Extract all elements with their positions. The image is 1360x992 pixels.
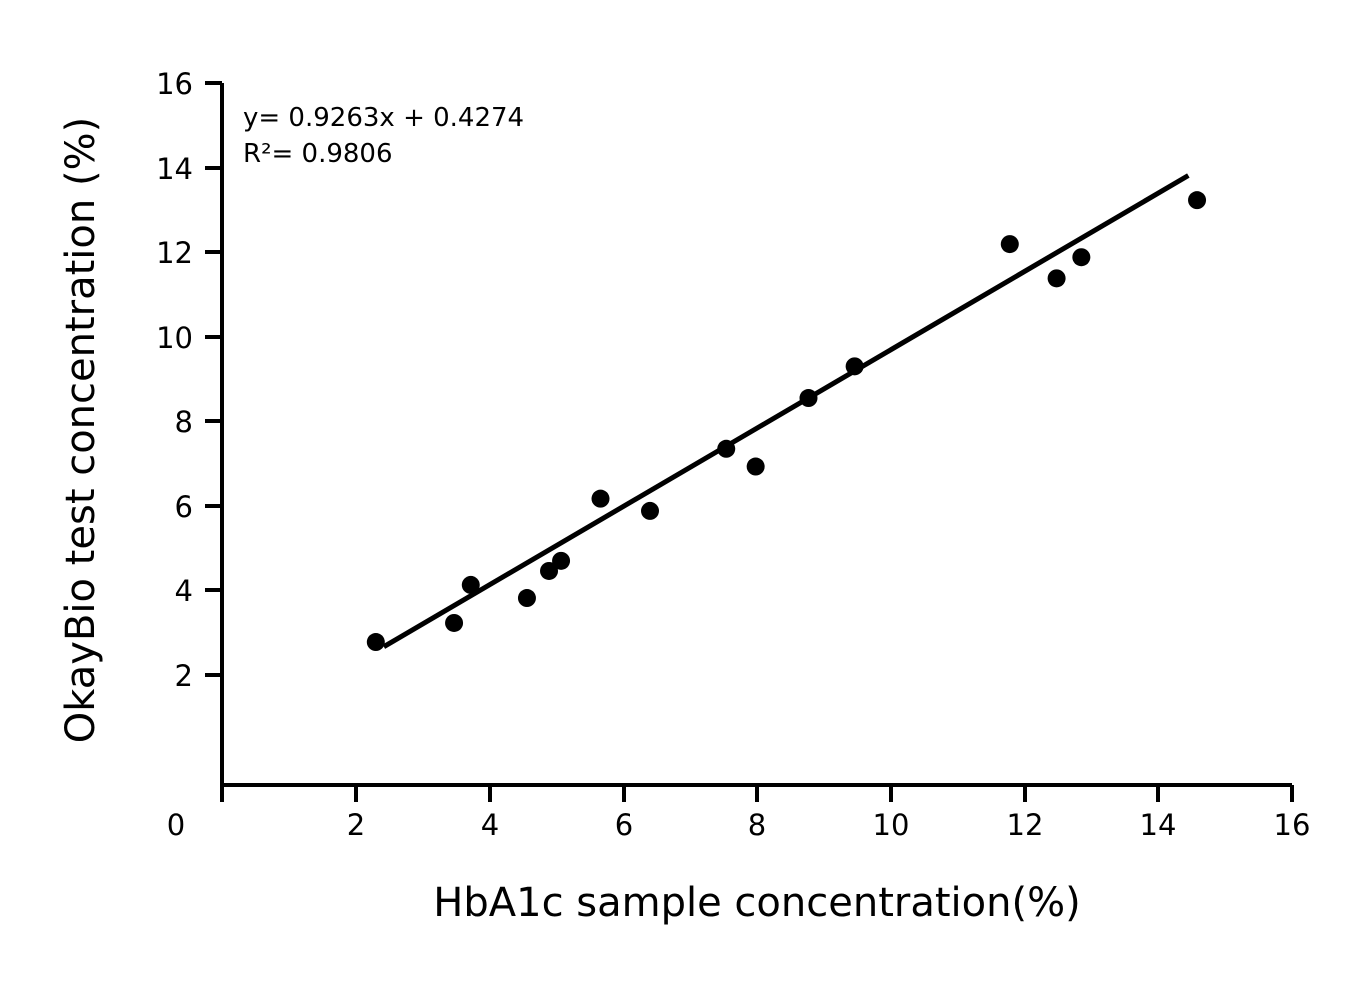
data-point (462, 576, 480, 594)
x-tick-label-10: 10 (873, 808, 910, 842)
chart-background (0, 0, 1360, 992)
data-point (717, 440, 735, 458)
data-point (747, 458, 765, 476)
x-tick-label-4: 4 (481, 808, 499, 842)
data-point (799, 389, 817, 407)
y-tick-label-14: 14 (156, 152, 193, 186)
data-point (592, 490, 610, 508)
x-tick-label-8: 8 (748, 808, 766, 842)
y-tick-label-6: 6 (175, 490, 193, 524)
x-tick-label-16: 16 (1274, 808, 1311, 842)
y-tick-label-2: 2 (175, 659, 193, 693)
data-point (641, 502, 659, 520)
y-tick-label-16: 16 (156, 67, 193, 101)
y-tick-label-4: 4 (175, 574, 193, 608)
x-tick-label-6: 6 (615, 808, 633, 842)
x-tick-label-12: 12 (1007, 808, 1044, 842)
data-point (518, 589, 536, 607)
y-tick-label-8: 8 (175, 405, 193, 439)
regression-equation-label: y= 0.9263x + 0.4274 (243, 103, 524, 133)
data-point (367, 633, 385, 651)
data-point (1001, 235, 1019, 253)
data-point (1072, 248, 1090, 266)
data-point (552, 552, 570, 570)
scatter-chart: 16 14 12 10 8 6 4 2 0 2 4 6 8 10 12 14 1… (0, 0, 1360, 992)
r-squared-label: R²= 0.9806 (243, 139, 393, 169)
x-tick-label-14: 14 (1140, 808, 1177, 842)
y-tick-label-12: 12 (156, 236, 193, 270)
x-axis-title: HbA1c sample concentration(%) (433, 880, 1080, 926)
x-tick-label-2: 2 (347, 808, 365, 842)
data-point (1188, 191, 1206, 209)
data-point (846, 357, 864, 375)
x-tick-label-0: 0 (167, 808, 185, 842)
data-point (445, 614, 463, 632)
y-tick-label-10: 10 (156, 321, 193, 355)
y-axis-title: OkayBio test concentration (%) (58, 117, 104, 743)
data-point (1048, 269, 1066, 287)
